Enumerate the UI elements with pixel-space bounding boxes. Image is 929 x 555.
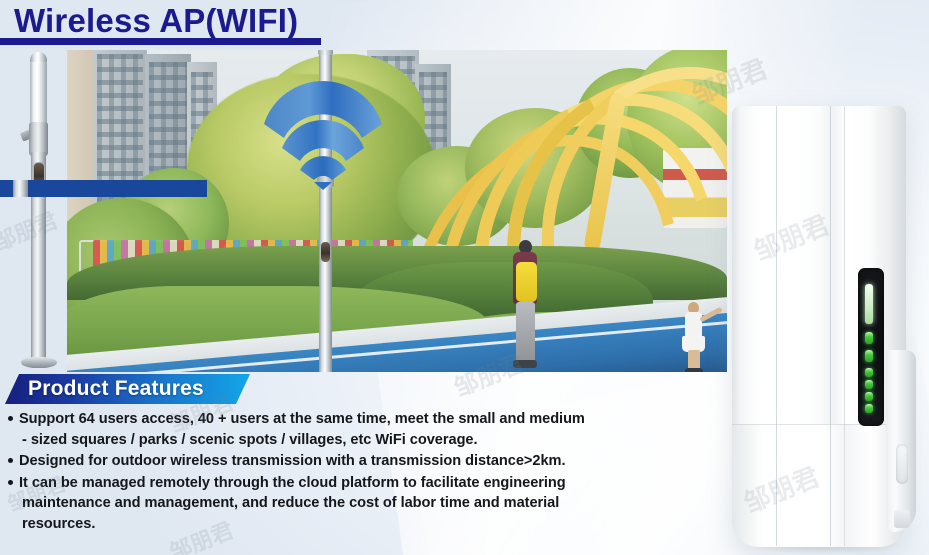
child-figure [679,302,709,372]
feature-line: resources. [19,514,732,535]
wifi-signal-icon [262,78,384,190]
bullet-dot [8,458,13,463]
bullet-dot [8,416,13,421]
feature-line: - sized squares / parks / scenic spots /… [19,430,732,451]
pole-base [21,357,57,368]
pole-lamp [30,62,47,124]
list-item: Designed for outdoor wireless transmissi… [6,451,732,472]
feature-line: It can be managed remotely through the c… [19,475,566,491]
device-seam [776,106,777,546]
device-mount-foot [894,510,910,528]
page-title: Wireless AP(WIFI) [14,2,298,40]
pole-joint [29,122,48,156]
title-underline [0,38,321,45]
pole-cap [318,50,333,55]
list-item: It can be managed remotely through the c… [6,473,732,535]
device-seam [844,106,845,546]
feature-line: Support 64 users access, 40 + users at t… [19,411,585,427]
led-indicator [865,350,873,362]
product-features-label: Product Features [28,377,204,401]
scene-photo [67,50,727,372]
led-indicator [865,284,873,324]
bullet-dot [8,480,13,485]
device-side-bracket [886,350,916,532]
led-indicator-panel [858,268,884,426]
device-port-cover [896,444,908,484]
product-slide: Wireless AP(WIFI) [0,0,929,555]
led-indicator [865,332,873,344]
device-lower-housing [732,424,906,547]
led-indicator [865,368,873,377]
list-item: Support 64 users access, 40 + users at t… [6,409,732,450]
device-seam [830,106,831,546]
outdoor-access-point-device [724,106,924,548]
adult-figure [507,240,543,372]
feature-line: Designed for outdoor wireless transmissi… [19,453,565,469]
feature-line: maintenance and management, and reduce t… [19,493,732,514]
feature-list: Support 64 users access, 40 + users at t… [6,409,732,536]
accent-band [0,180,207,197]
smart-pole-illustration [18,52,60,370]
led-indicator [865,380,873,389]
pole-camera-icon [321,242,330,262]
accent-band-pole-gap [13,180,28,197]
led-indicator [865,392,873,401]
led-indicator [865,404,873,413]
